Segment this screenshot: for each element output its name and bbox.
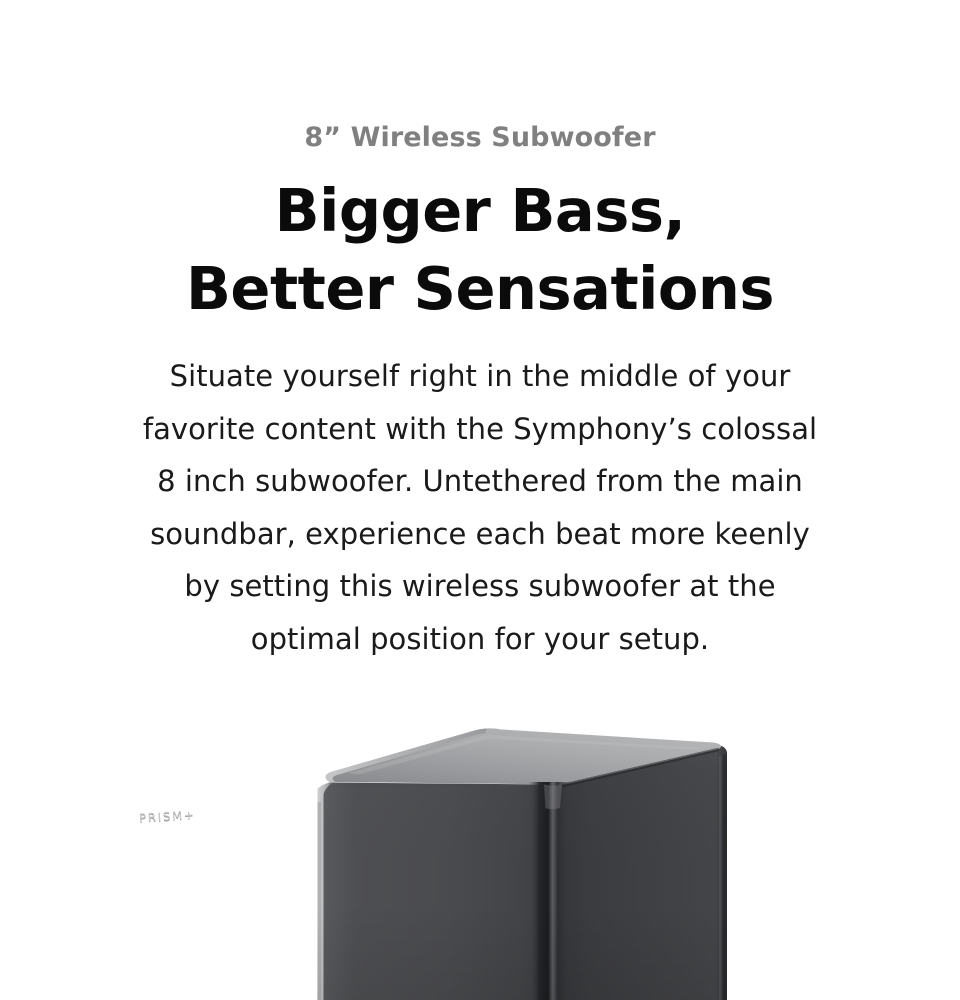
copy-block: 8” Wireless Subwoofer Bigger Bass, Bette… <box>0 0 960 665</box>
body-line-1: Situate yourself right in the middle of … <box>0 350 960 403</box>
prism-plus-logo: PRISM+ <box>139 807 196 825</box>
body-line-5: by setting this wireless subwoofer at th… <box>0 560 960 613</box>
body-line-4: soundbar, experience each beat more keen… <box>0 508 960 561</box>
page-title: Bigger Bass, Better Sensations <box>0 158 960 328</box>
body-line-2: favorite content with the Symphony’s col… <box>0 403 960 456</box>
product-feature-panel: 8” Wireless Subwoofer Bigger Bass, Bette… <box>0 0 960 1000</box>
body-line-6: optimal position for your setup. <box>0 613 960 666</box>
subwoofer-graphic <box>304 716 740 1000</box>
headline-line-1: Bigger Bass, <box>0 172 960 250</box>
subwoofer-illustration <box>304 716 740 1000</box>
headline-line-2: Better Sensations <box>0 250 960 328</box>
product-image: PRISM+ <box>40 716 960 1000</box>
body-paragraph: Situate yourself right in the middle of … <box>0 328 960 665</box>
product-eyebrow-label: 8” Wireless Subwoofer <box>0 0 960 158</box>
body-line-3: 8 inch subwoofer. Untethered from the ma… <box>0 455 960 508</box>
